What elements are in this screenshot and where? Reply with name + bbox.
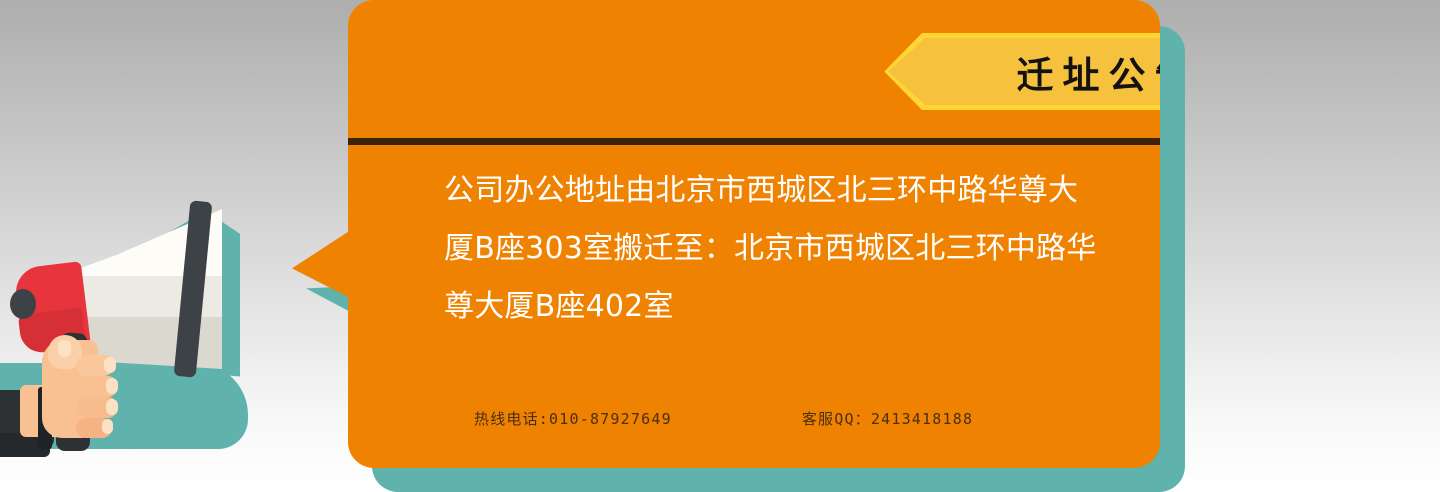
qq-text: 客服QQ：2413418188	[802, 408, 973, 429]
hotline-text: 热线电话:010-87927649	[474, 408, 672, 429]
notice-card: 迁址公告 公司办公地址由北京市西城区北三环中路华尊大厦B座303室搬迁至：北京市…	[348, 0, 1160, 468]
hand-fingernail-2	[106, 378, 118, 394]
page-title: 迁址公告	[882, 33, 1160, 110]
title-banner: 迁址公告	[882, 33, 1160, 110]
announcement-banner: 迁址公告 公司办公地址由北京市西城区北三环中路华尊大厦B座303室搬迁至：北京市…	[0, 0, 1440, 492]
contact-footer: 热线电话:010-87927649 客服QQ：2413418188	[348, 408, 1160, 429]
title-divider	[348, 138, 1160, 145]
hand-fingernail-3	[106, 399, 118, 415]
notice-body-text: 公司办公地址由北京市西城区北三环中路华尊大厦B座303室搬迁至：北京市西城区北三…	[444, 162, 1104, 336]
hand-fingernail-4	[102, 419, 113, 434]
megaphone-knob	[10, 289, 36, 319]
hand-thumbnail	[58, 340, 71, 357]
megaphone-icon	[0, 185, 300, 492]
hand-fingernail-1	[104, 357, 116, 373]
